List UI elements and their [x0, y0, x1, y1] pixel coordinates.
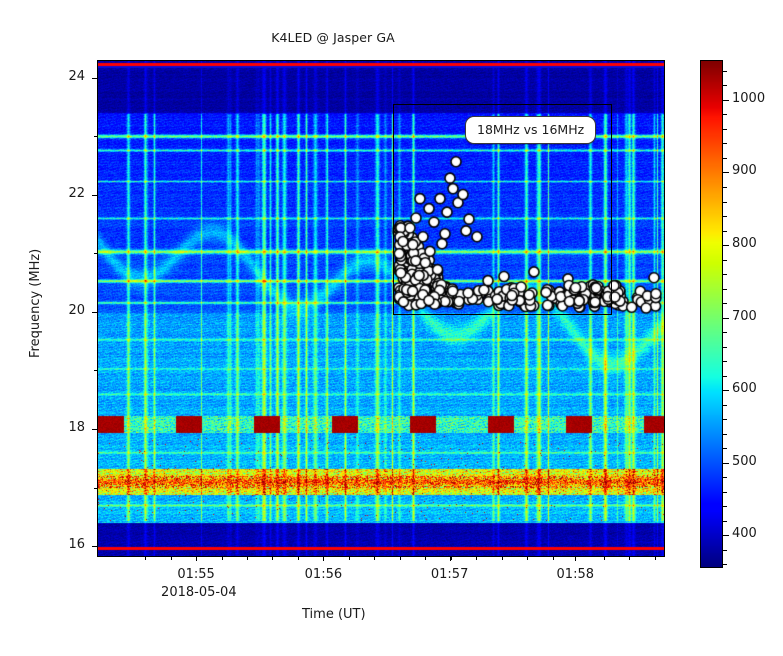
colorbar-minor-tick: [723, 361, 727, 362]
colorbar-minor-tick: [723, 448, 727, 449]
colorbar-tick: [723, 390, 729, 391]
page-title: K4LED @ Jasper GA: [0, 30, 666, 45]
x-minor-tick: [145, 556, 146, 560]
colorbar-minor-tick: [723, 216, 727, 217]
colorbar-minor-tick: [723, 202, 727, 203]
colorbar-tick-label: 900: [732, 163, 757, 178]
x-minor-tick: [298, 556, 299, 560]
colorbar-minor-tick: [723, 71, 727, 72]
colorbar-tick: [723, 245, 729, 246]
colorbar-tick-label: 600: [732, 381, 757, 396]
x-minor-tick: [349, 556, 350, 560]
colorbar-minor-tick: [723, 477, 727, 478]
colorbar-gradient: [701, 61, 722, 567]
colorbar-tick: [723, 318, 729, 319]
colorbar-minor-tick: [723, 85, 727, 86]
y-tick-label: 22: [39, 186, 85, 201]
y-minor-tick: [94, 370, 98, 371]
colorbar-minor-tick: [723, 274, 727, 275]
colorbar-tick-label: 700: [732, 309, 757, 324]
y-tick-label: 18: [39, 420, 85, 435]
x-tick: [575, 556, 576, 561]
x-minor-tick: [527, 556, 528, 560]
x-minor-tick: [629, 556, 630, 560]
colorbar-minor-tick: [723, 405, 727, 406]
x-axis-date-label: 2018-05-04: [161, 585, 237, 600]
figure-canvas: K4LED @ Jasper GA 18MHz vs 16MHz 1618202…: [0, 0, 783, 656]
y-tick: [92, 429, 97, 430]
colorbar[interactable]: [700, 60, 723, 568]
colorbar-tick-label: 500: [732, 454, 757, 469]
x-minor-tick: [400, 556, 401, 560]
colorbar-minor-tick: [723, 143, 727, 144]
colorbar-minor-tick: [723, 434, 727, 435]
x-minor-tick: [604, 556, 605, 560]
colorbar-tick-label: 400: [732, 526, 757, 541]
y-tick: [92, 195, 97, 196]
colorbar-minor-tick: [723, 129, 727, 130]
x-tick-label: 01:55: [161, 567, 231, 582]
x-minor-tick: [553, 556, 554, 560]
colorbar-minor-tick: [723, 564, 727, 565]
y-tick: [92, 312, 97, 313]
colorbar-minor-tick: [723, 158, 727, 159]
x-minor-tick: [272, 556, 273, 560]
colorbar-minor-tick: [723, 231, 727, 232]
x-minor-tick: [247, 556, 248, 560]
colorbar-minor-tick: [723, 419, 727, 420]
y-tick-label: 20: [39, 303, 85, 318]
y-minor-tick: [94, 136, 98, 137]
y-tick: [92, 78, 97, 79]
y-axis-title: Frequency (MHz): [28, 248, 43, 357]
x-minor-tick: [425, 556, 426, 560]
colorbar-minor-tick: [723, 376, 727, 377]
x-minor-tick: [476, 556, 477, 560]
colorbar-tick-label: 800: [732, 236, 757, 251]
x-minor-tick: [655, 556, 656, 560]
y-tick: [92, 546, 97, 547]
colorbar-minor-tick: [723, 114, 727, 115]
x-minor-tick: [374, 556, 375, 560]
colorbar-minor-tick: [723, 332, 727, 333]
y-tick-label: 24: [39, 69, 85, 84]
x-minor-tick: [171, 556, 172, 560]
colorbar-minor-tick: [723, 187, 727, 188]
x-minor-tick: [222, 556, 223, 560]
x-tick-label: 01:57: [415, 567, 485, 582]
x-minor-tick: [502, 556, 503, 560]
y-minor-tick: [94, 488, 98, 489]
x-tick: [323, 556, 324, 561]
colorbar-minor-tick: [723, 521, 727, 522]
colorbar-tick: [723, 463, 729, 464]
x-axis-title: Time (UT): [302, 607, 366, 622]
x-tick-label: 01:56: [288, 567, 358, 582]
y-minor-tick: [94, 253, 98, 254]
colorbar-tick-label: 1000: [732, 91, 765, 106]
colorbar-tick: [723, 535, 729, 536]
colorbar-minor-tick: [723, 303, 727, 304]
colorbar-minor-tick: [723, 506, 727, 507]
annotation-label: 18MHz vs 16MHz: [465, 116, 596, 144]
colorbar-minor-tick: [723, 347, 727, 348]
x-tick: [196, 556, 197, 561]
x-minor-tick: [451, 556, 452, 560]
colorbar-minor-tick: [723, 550, 727, 551]
y-tick-label: 16: [39, 537, 85, 552]
colorbar-tick: [723, 100, 729, 101]
colorbar-minor-tick: [723, 289, 727, 290]
colorbar-minor-tick: [723, 260, 727, 261]
colorbar-minor-tick: [723, 492, 727, 493]
x-tick-label: 01:58: [540, 567, 610, 582]
colorbar-tick: [723, 172, 729, 173]
